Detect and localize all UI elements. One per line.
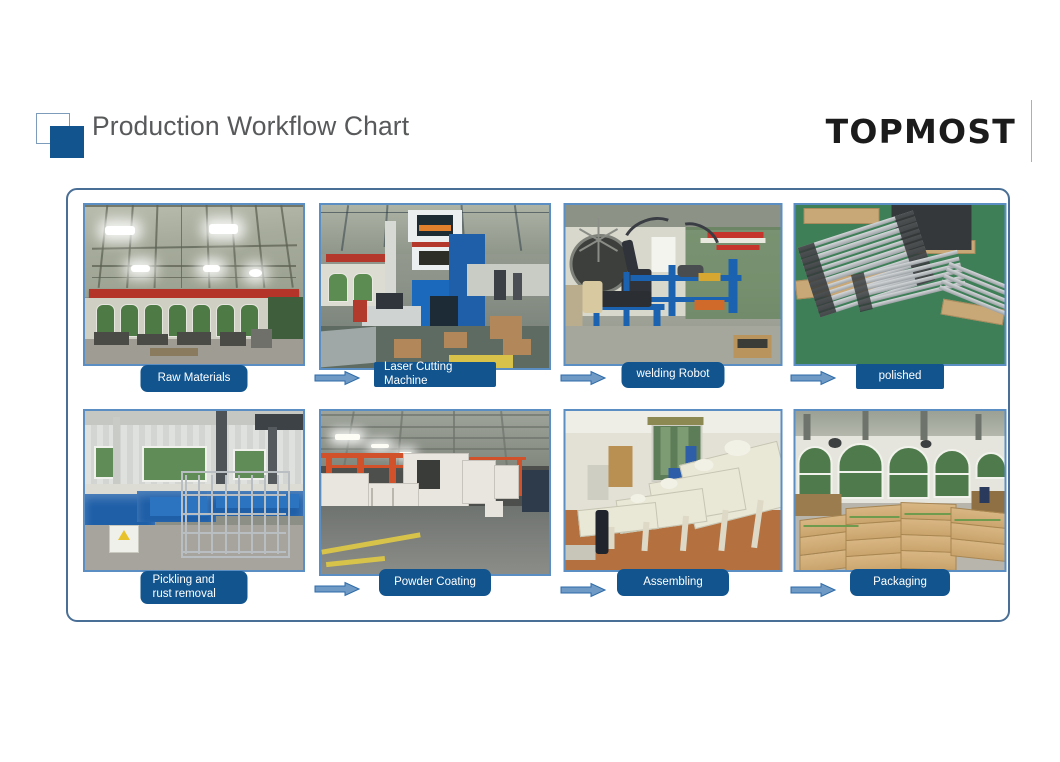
photo-polished-parts xyxy=(794,203,1007,366)
step-label-welding-robot[interactable]: welding Robot xyxy=(622,362,725,388)
workflow-row-2: Pickling and rust removal xyxy=(68,401,1012,607)
logo-mark xyxy=(36,113,88,159)
workflow-step-raw-materials[interactable]: Raw Materials xyxy=(76,195,312,401)
step-label-polished[interactable]: polished xyxy=(856,364,944,389)
logo-filled-square-icon xyxy=(50,126,84,158)
brand-divider xyxy=(1031,100,1033,162)
step-label-raw-materials[interactable]: Raw Materials xyxy=(141,365,248,392)
workflow-step-powder-coating[interactable]: Powder Coating xyxy=(312,401,558,607)
workflow-step-assembling[interactable]: Assembling xyxy=(558,401,788,607)
photo-packaging-warehouse xyxy=(794,409,1007,572)
step-label-pickling-and-rust-removal[interactable]: Pickling and rust removal xyxy=(141,571,248,604)
photo-laser-cutting-machine xyxy=(319,203,551,370)
step-label-packaging[interactable]: Packaging xyxy=(850,569,950,596)
workflow-step-laser-cutting[interactable]: Laser Cutting Machine xyxy=(312,195,558,401)
workflow-step-pickling[interactable]: Pickling and rust removal xyxy=(76,401,312,607)
photo-pickling-tanks xyxy=(83,409,305,572)
brand-name: TOPMOST xyxy=(826,112,1016,151)
page-header: Production Workflow Chart TOPMOST xyxy=(0,0,1060,180)
photo-welding-robot xyxy=(564,203,783,366)
workflow-step-packaging[interactable]: Packaging xyxy=(788,401,1012,607)
step-label-laser-cutting-machine[interactable]: Laser Cutting Machine xyxy=(374,362,496,387)
photo-powder-coating-line xyxy=(319,409,551,576)
photo-assembling-station xyxy=(564,409,783,572)
workflow-step-welding-robot[interactable]: welding Robot xyxy=(558,195,788,401)
brand-logo: TOPMOST xyxy=(826,100,1016,162)
page-title: Production Workflow Chart xyxy=(92,111,409,142)
photo-workshop-interior xyxy=(83,203,305,366)
step-label-assembling[interactable]: Assembling xyxy=(617,569,729,596)
workflow-frame: Raw Materials xyxy=(66,188,1010,622)
workflow-step-polished[interactable]: polished xyxy=(788,195,1012,401)
step-label-powder-coating[interactable]: Powder Coating xyxy=(379,569,491,596)
workflow-row-1: Raw Materials xyxy=(68,195,1012,401)
